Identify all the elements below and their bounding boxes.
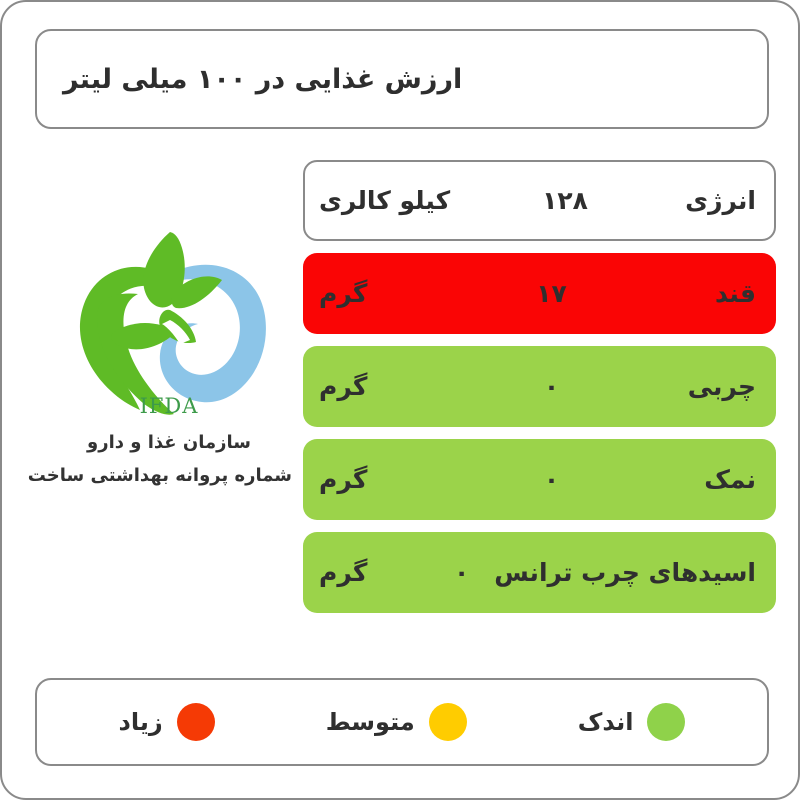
nutrient-row-energy: انرژی ۱۲۸ کیلو کالری <box>303 160 776 241</box>
nutrient-rows: انرژی ۱۲۸ کیلو کالری قند ۱۷ گرم چربی ۰ گ… <box>303 160 776 613</box>
nutrient-value: ۰ <box>429 372 674 401</box>
nutrient-row-trans-fat: اسیدهای چرب ترانس ۰ گرم <box>303 532 776 613</box>
ifda-apple-logo-icon <box>62 224 276 420</box>
nutrient-name: انرژی <box>674 186 756 215</box>
legend-box: اندک متوسط زیاد <box>35 678 769 766</box>
nutrient-value: ۰ <box>429 558 494 587</box>
nutrient-name: چربی <box>674 372 756 401</box>
nutrient-unit: گرم <box>319 558 429 587</box>
ifda-logo-block: IFDA سازمان غذا و دارو شماره پروانه بهدا… <box>46 224 292 486</box>
ifda-organization-name: سازمان غذا و دارو <box>46 432 292 453</box>
legend-item-low: اندک <box>578 703 686 741</box>
nutrient-unit: گرم <box>319 372 429 401</box>
legend-label-low: اندک <box>578 708 634 736</box>
nutrient-unit: گرم <box>319 279 429 308</box>
legend-label-high: زیاد <box>119 708 163 736</box>
legend-dot-high-icon <box>177 703 215 741</box>
nutrient-row-fat: چربی ۰ گرم <box>303 346 776 427</box>
ifda-acronym: IFDA <box>46 394 292 418</box>
nutrient-value: ۰ <box>429 465 674 494</box>
nutrient-unit: گرم <box>319 465 429 494</box>
nutrient-value: ۱۲۸ <box>456 186 674 215</box>
nutrient-row-sugar: قند ۱۷ گرم <box>303 253 776 334</box>
legend-item-medium: متوسط <box>326 703 467 741</box>
nutrient-row-salt: نمک ۰ گرم <box>303 439 776 520</box>
health-license-label: شماره پروانه بهداشتی ساخت <box>46 465 292 486</box>
nutrient-name: قند <box>674 279 756 308</box>
legend-dot-medium-icon <box>429 703 467 741</box>
page-title: ارزش غذایی در ۱۰۰ میلی لیتر <box>63 64 462 95</box>
nutrient-name: اسیدهای چرب ترانس <box>494 558 756 587</box>
legend-dot-low-icon <box>647 703 685 741</box>
nutrition-label-card: ارزش غذایی در ۱۰۰ میلی لیتر IFDA سازمان … <box>0 0 800 800</box>
nutrient-name: نمک <box>674 465 756 494</box>
legend-item-high: زیاد <box>119 703 215 741</box>
header-box: ارزش غذایی در ۱۰۰ میلی لیتر <box>35 29 769 129</box>
legend-label-medium: متوسط <box>326 708 415 736</box>
nutrient-value: ۱۷ <box>429 279 674 308</box>
nutrient-unit: کیلو کالری <box>319 186 456 215</box>
